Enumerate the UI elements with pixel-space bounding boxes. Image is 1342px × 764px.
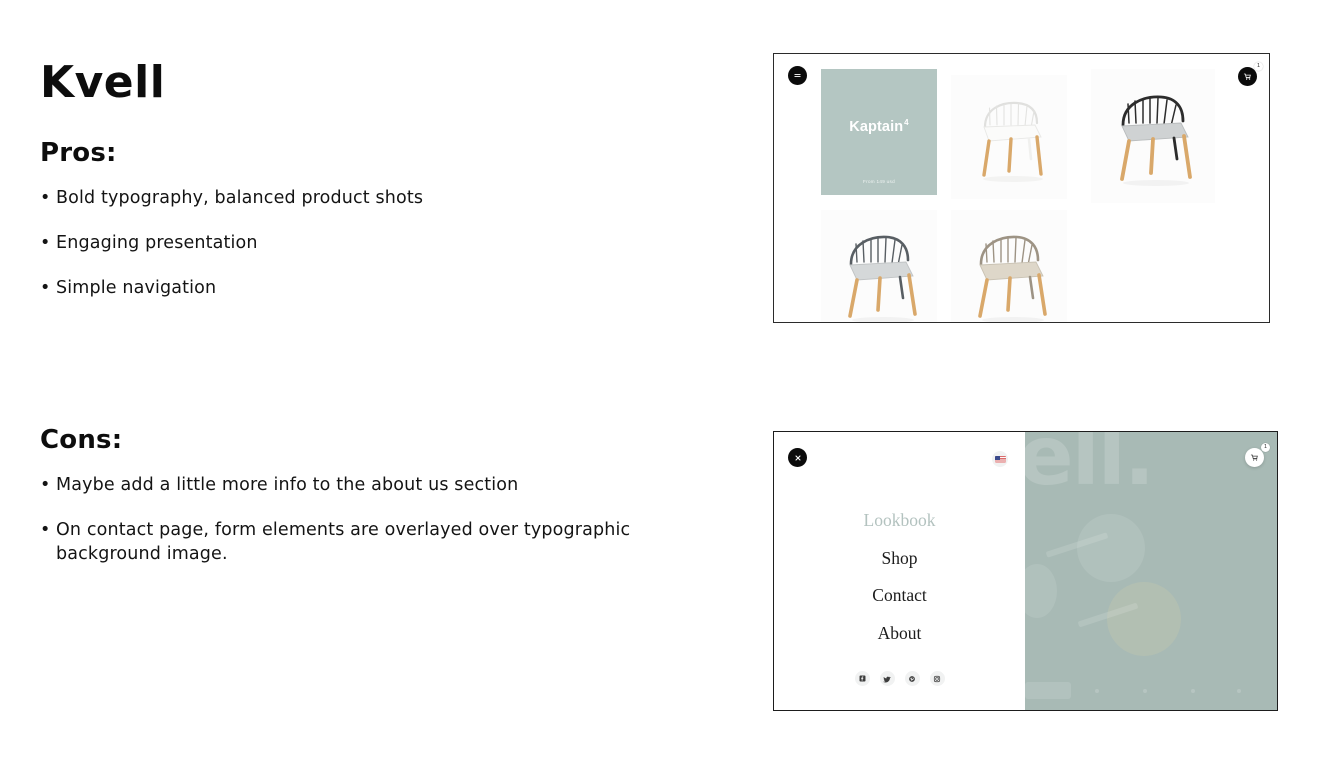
pros-list: Bold typography, balanced product shots … [40,186,720,300]
decorative-shape [1237,689,1241,693]
decorative-shape [1025,682,1071,699]
hamburger-menu-icon[interactable] [788,66,807,85]
decorative-shape [1143,689,1147,693]
instagram-glyph [933,675,941,683]
flag-glyph [995,456,1006,463]
screenshot-nav-overlay: ell. [773,431,1278,711]
product-tile[interactable] [821,210,937,323]
facebook-glyph [859,675,866,682]
cart-glyph [1250,453,1259,462]
list-item: Simple navigation [40,276,660,300]
decorative-row [1025,682,1277,702]
product-tile[interactable] [1091,69,1215,203]
chair-black-image [1091,69,1215,203]
cons-section: Cons: Maybe add a little more info to th… [40,425,720,566]
cons-heading: Cons: [40,425,720,455]
instagram-icon[interactable] [930,671,945,686]
review-text-column: Kvell Pros: Bold typography, balanced pr… [40,60,720,301]
cons-list: Maybe add a little more info to the abou… [40,473,720,566]
chair-taupe-image [951,210,1067,323]
slide-canvas: Kvell Pros: Bold typography, balanced pr… [0,0,1342,764]
nav-menu: Lookbook Shop Contact About [774,512,1025,662]
nav-item-contact[interactable]: Contact [774,587,1025,605]
page-title: Kvell [40,60,720,106]
list-item: Bold typography, balanced product shots [40,186,660,210]
hero-superscript: 4 [904,118,909,127]
facebook-icon[interactable] [855,671,870,686]
nav-item-lookbook[interactable]: Lookbook [774,512,1025,530]
product-tile[interactable] [951,75,1067,199]
cart-badge: 1 [1261,443,1270,452]
pros-heading: Pros: [40,138,720,168]
chair-white-image [951,75,1067,199]
decorative-shape [1107,582,1181,656]
twitter-glyph [883,675,891,683]
hero-tile-subtitle: From 149 usd [821,179,937,184]
cart-badge: 1 [1254,62,1263,71]
chair-grey-image [821,210,937,323]
screenshot-product-grid: 1 Kaptain4 From 149 usd [773,53,1270,323]
twitter-icon[interactable] [880,671,895,686]
decorative-shape [1077,514,1145,582]
ghost-typography: ell. [1025,432,1153,498]
pinterest-icon[interactable] [905,671,920,686]
list-item: On contact page, form elements are overl… [40,518,660,566]
shopping-cart-icon[interactable]: 1 [1245,448,1264,467]
product-tile[interactable] [951,210,1067,323]
us-flag-icon[interactable] [992,451,1008,467]
list-item: Engaging presentation [40,231,660,255]
decorative-shape [1025,564,1057,618]
close-glyph [794,454,802,462]
nav-panel: Lookbook Shop Contact About [774,432,1025,710]
nav-item-shop[interactable]: Shop [774,550,1025,568]
hero-tile-title: Kaptain4 [849,118,908,135]
list-item: Maybe add a little more info to the abou… [40,473,660,497]
social-links-row [774,671,1025,686]
product-grid: Kaptain4 From 149 usd [821,69,1251,323]
hamburger-menu-glyph [793,71,802,80]
pros-section: Pros: Bold typography, balanced product … [40,138,720,300]
nav-background-image: ell. [1025,432,1277,710]
decorative-shape [1095,689,1099,693]
close-icon[interactable] [788,448,807,467]
pinterest-glyph [908,675,916,683]
product-hero-tile[interactable]: Kaptain4 From 149 usd [821,69,937,195]
nav-item-about[interactable]: About [774,625,1025,643]
decorative-shape [1191,689,1195,693]
